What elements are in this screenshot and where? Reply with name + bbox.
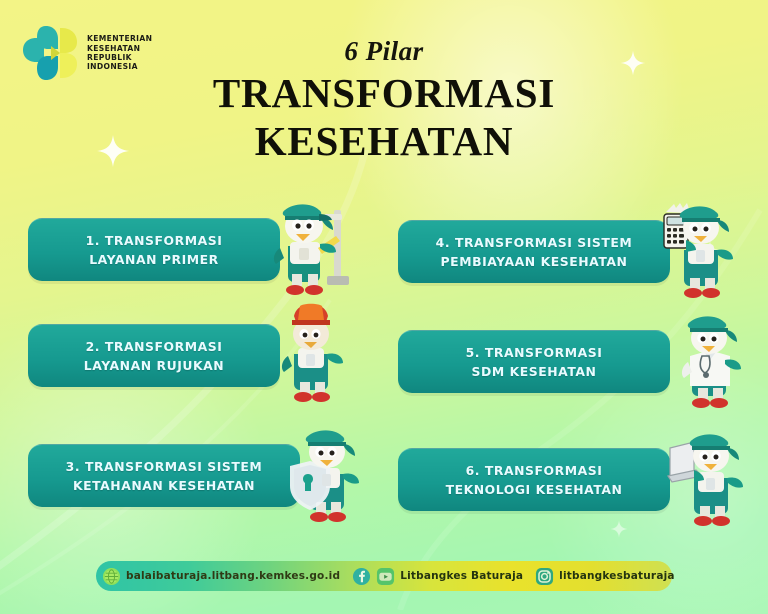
website-url: balaibaturaja.litbang.kemkes.go.id [126, 570, 340, 582]
bird-mascot-with-shield [286, 422, 382, 526]
title-line-2: KESEHATAN [0, 117, 768, 165]
pillar-3-line-2: KETAHANAN KESEHATAN [66, 476, 263, 495]
pillar-label-6: 6. TRANSFORMASI TEKNOLOGI KESEHATAN [436, 461, 633, 499]
pillar-4-line-2: PEMBIAYAAN KESEHATAN [436, 252, 633, 271]
pillar-6-line-2: TEKNOLOGI KESEHATAN [446, 480, 623, 499]
pillar-pill-1[interactable]: 1. TRANSFORMASI LAYANAN PRIMER [28, 218, 280, 281]
pillar-1-line-1: 1. TRANSFORMASI [86, 231, 223, 250]
bird-mascot-with-red-helmet [272, 302, 368, 406]
pillar-label-2: 2. TRANSFORMASI LAYANAN RUJUKAN [74, 337, 234, 375]
title-line-1: TRANSFORMASI [213, 70, 555, 116]
bird-mascot-with-calculator [654, 198, 750, 302]
instagram-item[interactable]: litbangkesbaturaja [535, 567, 675, 586]
pillar-6-line-1: 6. TRANSFORMASI [446, 461, 623, 480]
page-title: 6 Pilar TRANSFORMASI KESEHATAN [0, 36, 768, 165]
pillar-2-line-1: 2. TRANSFORMASI [84, 337, 224, 356]
instagram-handle: litbangkesbaturaja [559, 570, 675, 582]
social-display-name: Litbangkes Baturaja [400, 570, 523, 582]
pillar-pill-2[interactable]: 2. TRANSFORMASI LAYANAN RUJUKAN [28, 324, 280, 387]
pillar-pill-4[interactable]: 4. TRANSFORMASI SISTEM PEMBIAYAAN KESEHA… [398, 220, 670, 283]
youtube-icon [376, 567, 395, 586]
website-item[interactable]: balaibaturaja.litbang.kemkes.go.id [102, 567, 340, 586]
pillar-5-line-2: SDM KESEHATAN [466, 362, 603, 381]
pillar-pill-5[interactable]: 5. TRANSFORMASI SDM KESEHATAN [398, 330, 670, 393]
pillar-label-1: 1. TRANSFORMASI LAYANAN PRIMER [76, 231, 233, 269]
pillar-item-6[interactable]: 6. TRANSFORMASI TEKNOLOGI KESEHATAN [398, 428, 750, 528]
pillar-item-5[interactable]: 5. TRANSFORMASI SDM KESEHATAN [398, 310, 750, 410]
poster-canvas: KEMENTERIAN KESEHATAN REPUBLIK INDONESIA… [0, 0, 768, 614]
globe-icon [102, 567, 121, 586]
pillar-label-5: 5. TRANSFORMASI SDM KESEHATAN [456, 343, 613, 381]
instagram-icon [535, 567, 554, 586]
bird-mascot-with-laptop [664, 426, 760, 530]
pillar-item-2[interactable]: 2. TRANSFORMASI LAYANAN RUJUKAN [28, 304, 380, 404]
pillar-item-1[interactable]: 1. TRANSFORMASI LAYANAN PRIMER [28, 198, 380, 298]
pillar-4-line-1: 4. TRANSFORMASI SISTEM [436, 233, 633, 252]
title-kicker: 6 Pilar [0, 36, 768, 66]
pillar-label-4: 4. TRANSFORMASI SISTEM PEMBIAYAAN KESEHA… [426, 233, 643, 271]
pillar-label-3: 3. TRANSFORMASI SISTEM KETAHANAN KESEHAT… [56, 457, 273, 495]
pillar-grid: 1. TRANSFORMASI LAYANAN PRIMER [0, 198, 768, 518]
pillar-5-line-1: 5. TRANSFORMASI [466, 343, 603, 362]
pillar-1-line-2: LAYANAN PRIMER [86, 250, 223, 269]
footer-bar: balaibaturaja.litbang.kemkes.go.id Litba… [96, 561, 672, 591]
pillar-3-line-1: 3. TRANSFORMASI SISTEM [66, 457, 263, 476]
facebook-icon [352, 567, 371, 586]
pillar-item-4[interactable]: 4. TRANSFORMASI SISTEM PEMBIAYAAN KESEHA… [398, 200, 750, 300]
pillar-pill-6[interactable]: 6. TRANSFORMASI TEKNOLOGI KESEHATAN [398, 448, 670, 511]
pillar-pill-3[interactable]: 3. TRANSFORMASI SISTEM KETAHANAN KESEHAT… [28, 444, 300, 507]
facebook-youtube-item[interactable]: Litbangkes Baturaja [352, 567, 523, 586]
pillar-item-3[interactable]: 3. TRANSFORMASI SISTEM KETAHANAN KESEHAT… [28, 424, 380, 524]
bird-mascot-with-height-measure [266, 196, 362, 300]
pillar-2-line-2: LAYANAN RUJUKAN [84, 356, 224, 375]
title-main: TRANSFORMASI KESEHATAN [0, 69, 768, 165]
bird-mascot-doctor-coat [666, 308, 762, 412]
